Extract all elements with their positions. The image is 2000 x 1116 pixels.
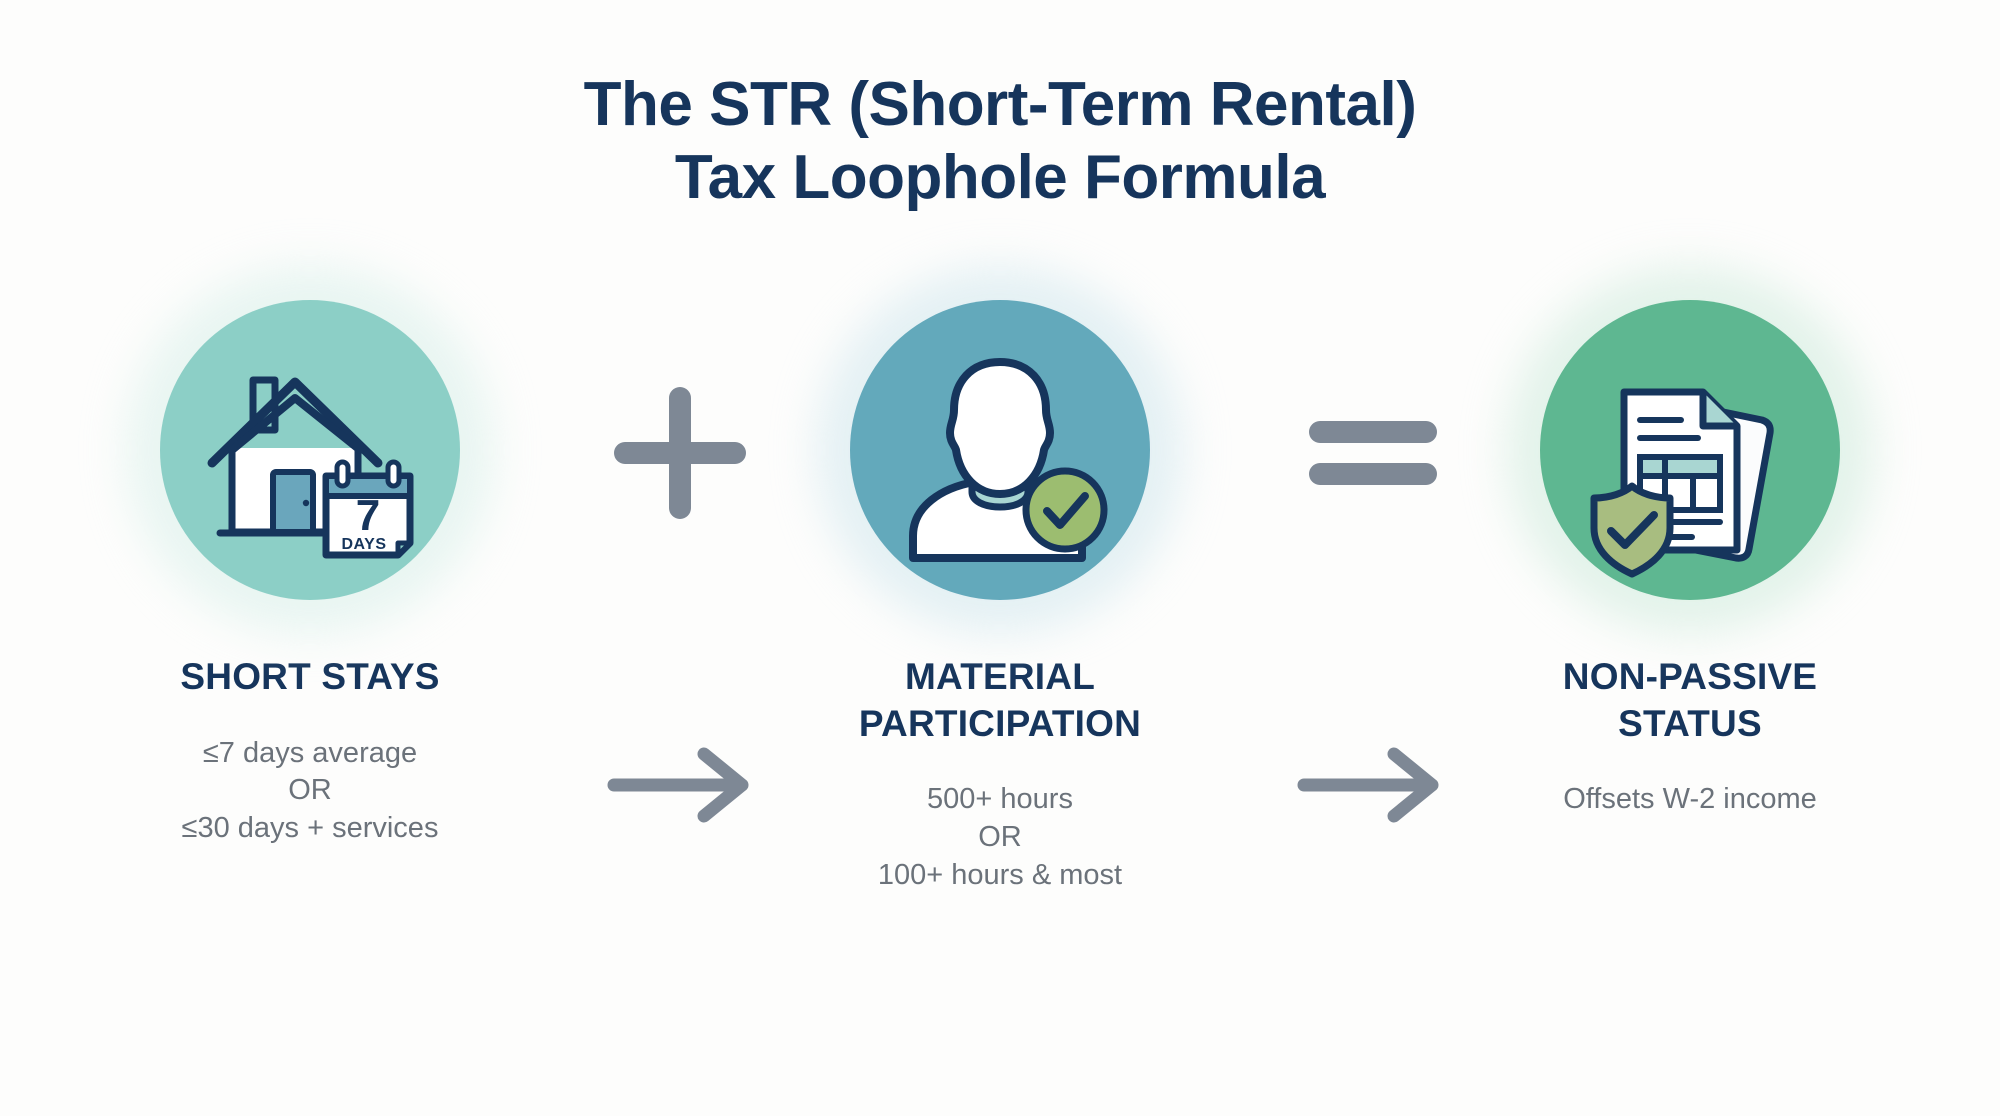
heading-line: NON-PASSIVE	[1470, 654, 1910, 701]
icon-container-short-stays: 7 DAYS	[160, 300, 460, 600]
page-title: The STR (Short-Term Rental) Tax Loophole…	[0, 68, 2000, 214]
column-heading-non-passive-status: NON-PASSIVE STATUS	[1470, 654, 1910, 747]
right-arrow-icon-1	[592, 740, 772, 830]
desc-line: 100+ hours & most	[780, 857, 1220, 895]
column-description-material-participation: 500+ hours OR 100+ hours & most	[780, 781, 1220, 894]
icon-container-non-passive-status	[1540, 300, 1840, 600]
desc-line: 500+ hours	[780, 781, 1220, 819]
desc-line: ≤30 days + services	[90, 810, 530, 848]
column-description-non-passive-status: Offsets W-2 income	[1470, 781, 1910, 819]
column-heading-material-participation: MATERIAL PARTICIPATION	[780, 654, 1220, 747]
shield-badge	[1594, 486, 1670, 574]
infographic-canvas: The STR (Short-Term Rental) Tax Loophole…	[0, 0, 2000, 1116]
heading-line: PARTICIPATION	[780, 701, 1220, 748]
desc-line: OR	[780, 819, 1220, 857]
person-with-check-icon	[850, 300, 1150, 600]
column-description-short-stays: ≤7 days average OR ≤30 days + services	[90, 735, 530, 848]
calendar-number: 7	[356, 491, 380, 540]
heading-line: SHORT STAYS	[90, 654, 530, 701]
icon-container-material-participation	[850, 300, 1150, 600]
check-badge	[1026, 471, 1104, 549]
title-line-1: The STR (Short-Term Rental)	[0, 68, 2000, 141]
equals-sign-icon	[1288, 368, 1458, 538]
column-heading-short-stays: SHORT STAYS	[90, 654, 530, 701]
tax-document-with-shield-icon	[1540, 300, 1840, 600]
column-non-passive-status: NON-PASSIVE STATUS Offsets W-2 income	[1470, 300, 1910, 819]
plus-sign-icon	[595, 368, 765, 538]
desc-line: ≤7 days average	[90, 735, 530, 773]
desc-line: OR	[90, 772, 530, 810]
heading-line: MATERIAL	[780, 654, 1220, 701]
column-short-stays: 7 DAYS SHORT STAYS ≤7 days average OR ≤3…	[90, 300, 530, 848]
column-material-participation: MATERIAL PARTICIPATION 500+ hours OR 100…	[780, 300, 1220, 894]
house-with-calendar-icon: 7 DAYS	[160, 300, 460, 600]
desc-line: Offsets W-2 income	[1470, 781, 1910, 819]
calendar-unit: DAYS	[342, 536, 387, 553]
heading-line: STATUS	[1470, 701, 1910, 748]
right-arrow-icon-2	[1282, 740, 1462, 830]
title-line-2: Tax Loophole Formula	[0, 141, 2000, 214]
